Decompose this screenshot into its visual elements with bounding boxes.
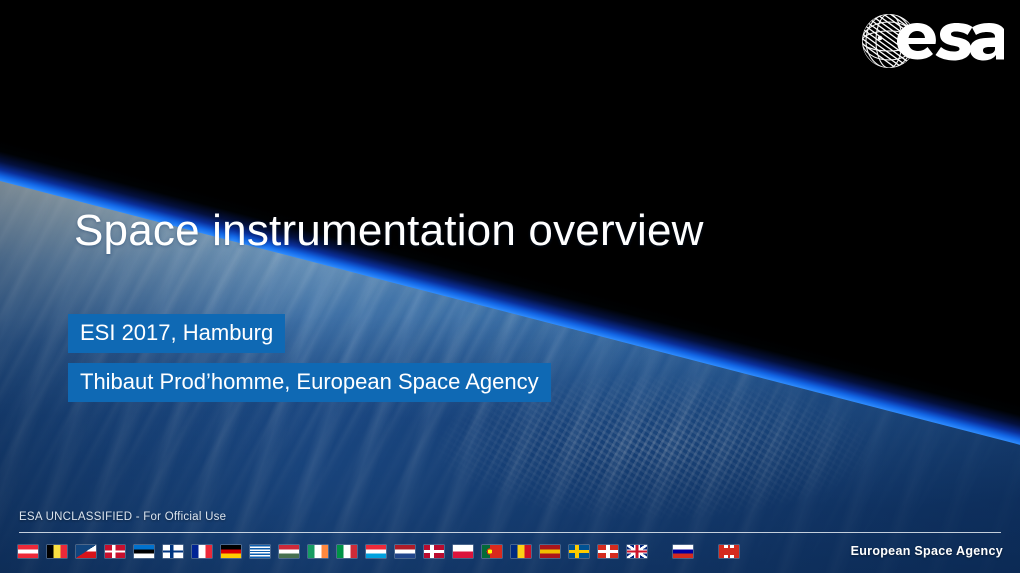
flag-germany — [221, 545, 241, 558]
flag-denmark — [105, 545, 125, 558]
presentation-slide: Space instrumentation overview ESI 2017,… — [0, 0, 1020, 573]
flag-norway — [424, 545, 444, 558]
flag-poland — [453, 545, 473, 558]
flag-spain — [540, 545, 560, 558]
footer-divider — [19, 532, 1001, 533]
flag-portugal — [482, 545, 502, 558]
esa-logo — [858, 10, 1004, 72]
event-label: ESI 2017, Hamburg — [68, 314, 285, 353]
flag-ireland — [308, 545, 328, 558]
flag-slovenia — [673, 545, 693, 558]
member-state-flag-strip — [18, 545, 748, 558]
flag-luxembourg — [366, 545, 386, 558]
flag-estonia — [134, 545, 154, 558]
flag-netherlands — [395, 545, 415, 558]
flag-france — [192, 545, 212, 558]
flag-czech-republic — [76, 545, 96, 558]
classification-notice: ESA UNCLASSIFIED - For Official Use — [19, 511, 226, 523]
flag-canada — [719, 545, 739, 558]
flag-switzerland — [598, 545, 618, 558]
flag-sweden — [569, 545, 589, 558]
flag-greece — [250, 545, 270, 558]
flag-romania — [511, 545, 531, 558]
author-label: Thibaut Prod’homme, European Space Agenc… — [68, 363, 551, 402]
agency-name: European Space Agency — [851, 544, 1003, 558]
flag-italy — [337, 545, 357, 558]
flag-hungary — [279, 545, 299, 558]
flag-belgium — [47, 545, 67, 558]
flag-united-kingdom — [627, 545, 647, 558]
flag-finland — [163, 545, 183, 558]
flag-austria — [18, 545, 38, 558]
slide-title: Space instrumentation overview — [74, 206, 704, 256]
